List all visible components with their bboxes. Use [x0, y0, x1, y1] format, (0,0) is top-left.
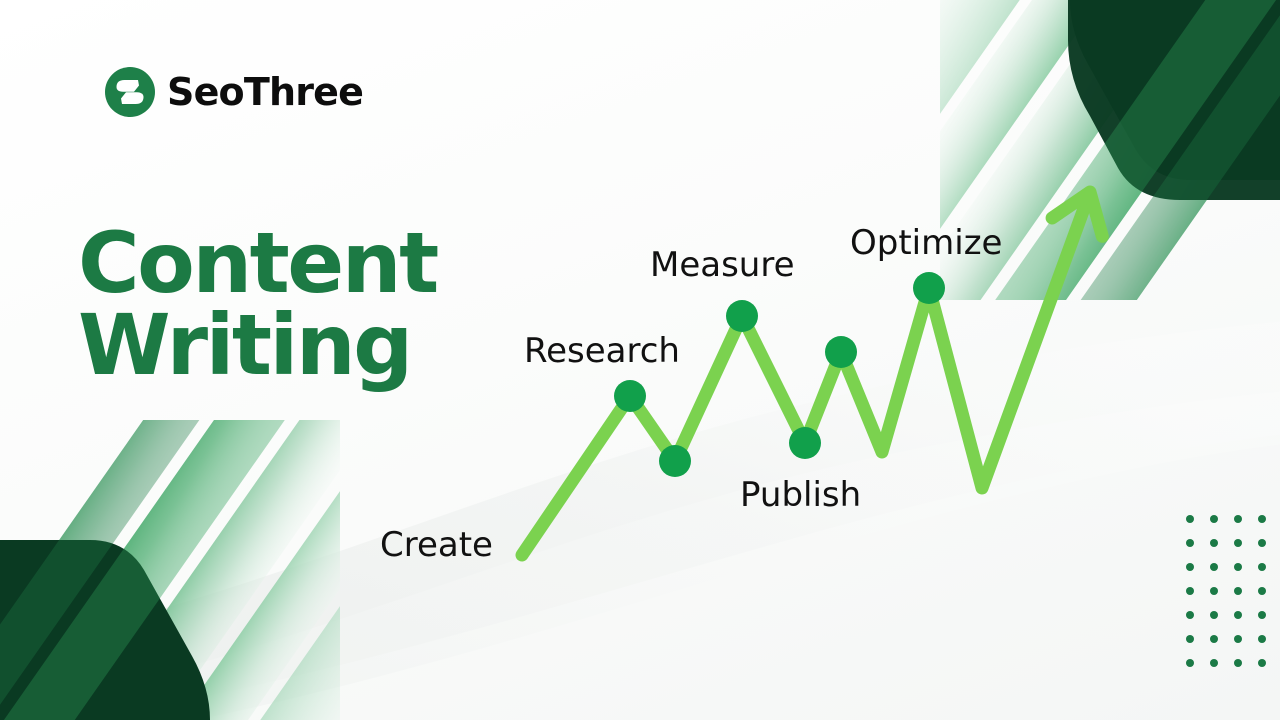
grid-dot — [1186, 611, 1194, 619]
grid-dot — [1258, 563, 1266, 571]
grid-dot — [1186, 539, 1194, 547]
chart-label-create: Create — [380, 528, 493, 562]
grid-dot — [1234, 539, 1242, 547]
grid-dot — [1234, 563, 1242, 571]
grid-dot — [1186, 515, 1194, 523]
grid-dot — [1234, 515, 1242, 523]
grid-dot — [1210, 563, 1218, 571]
grid-dot — [1258, 587, 1266, 595]
chart-label-optimize: Optimize — [850, 226, 1002, 260]
grid-dot — [1234, 659, 1242, 667]
grid-dot — [1234, 635, 1242, 643]
grid-dot — [1234, 587, 1242, 595]
grid-dot — [1210, 587, 1218, 595]
chart-annotations: Create Research Measure Publish Optimize — [0, 0, 1280, 720]
grid-dot — [1234, 611, 1242, 619]
grid-dot — [1210, 539, 1218, 547]
chart-label-publish: Publish — [740, 478, 861, 512]
grid-dot — [1186, 659, 1194, 667]
grid-dot — [1210, 659, 1218, 667]
grid-dot — [1186, 587, 1194, 595]
grid-dot — [1258, 611, 1266, 619]
grid-dot — [1210, 515, 1218, 523]
poster-canvas: SeoThree Content Writing Create Research… — [0, 0, 1280, 720]
grid-dot — [1186, 563, 1194, 571]
grid-dot — [1258, 539, 1266, 547]
grid-dot — [1258, 659, 1266, 667]
grid-dot — [1186, 635, 1194, 643]
grid-dot — [1258, 635, 1266, 643]
dot-grid-pattern — [1186, 515, 1280, 695]
grid-dot — [1258, 515, 1266, 523]
grid-dot — [1210, 611, 1218, 619]
chart-label-research: Research — [524, 334, 680, 368]
chart-label-measure: Measure — [650, 248, 795, 282]
grid-dot — [1210, 635, 1218, 643]
